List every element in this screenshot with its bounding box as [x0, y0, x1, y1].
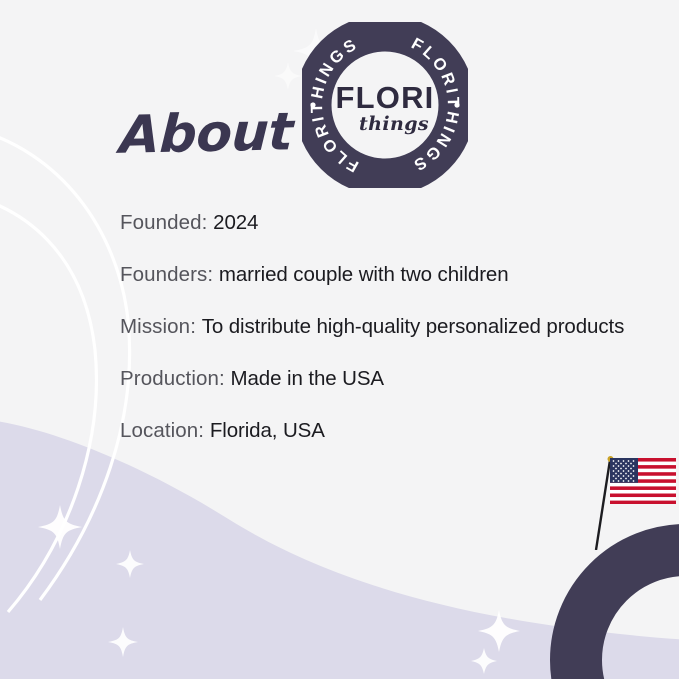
info-value: Florida, USA: [210, 419, 325, 442]
sparkle-icon: [38, 505, 82, 549]
info-label: Founders:: [120, 263, 213, 286]
info-label: Location:: [120, 419, 204, 442]
info-row-production: Production: Made in the USA: [120, 364, 640, 393]
flag-stripe: [610, 501, 676, 504]
info-row-founded: Founded: 2024: [120, 208, 640, 237]
info-value: 2024: [213, 211, 258, 234]
logo-ring-dot-right: [454, 102, 459, 107]
flag-stripe: [610, 494, 676, 498]
logo-center-secondary: things: [359, 113, 429, 135]
sparkle-icon: [478, 610, 520, 652]
usa-flag: [588, 450, 679, 550]
about-info-list: Founded: 2024 Founders: married couple w…: [120, 208, 640, 445]
arc-line-outer: [0, 128, 130, 600]
flag-stripe: [610, 486, 676, 490]
info-row-mission: Mission: To distribute high-quality pers…: [120, 312, 640, 341]
info-label: Mission:: [120, 315, 196, 338]
navy-ring-shape: [576, 550, 679, 679]
arc-line-inner: [0, 190, 96, 612]
info-value: To distribute high-quality personalized …: [202, 315, 625, 338]
logo-badge: FLORITHINGS FLORITHINGS FLORI things: [302, 22, 468, 188]
info-label: Founded:: [120, 211, 207, 234]
page-title: About: [119, 106, 294, 162]
info-row-location: Location: Florida, USA: [120, 416, 640, 445]
info-row-founders: Founders: married couple with two childr…: [120, 260, 640, 289]
info-value: married couple with two children: [219, 263, 509, 286]
logo-center-primary: FLORI: [336, 80, 435, 115]
sparkle-icon: [471, 648, 497, 674]
flag-body: [610, 458, 676, 504]
flag-pole: [596, 460, 610, 550]
lavender-wave: [0, 420, 679, 679]
sparkle-icon: [274, 62, 302, 90]
about-card: FLORITHINGS FLORITHINGS FLORI things Abo…: [0, 0, 679, 679]
logo-center-wordmark: FLORI things: [336, 80, 435, 135]
sparkle-icon: [108, 627, 138, 657]
info-value: Made in the USA: [231, 367, 384, 390]
info-label: Production:: [120, 367, 225, 390]
sparkle-icon: [116, 550, 144, 578]
logo-ring-dot-left: [310, 102, 315, 107]
